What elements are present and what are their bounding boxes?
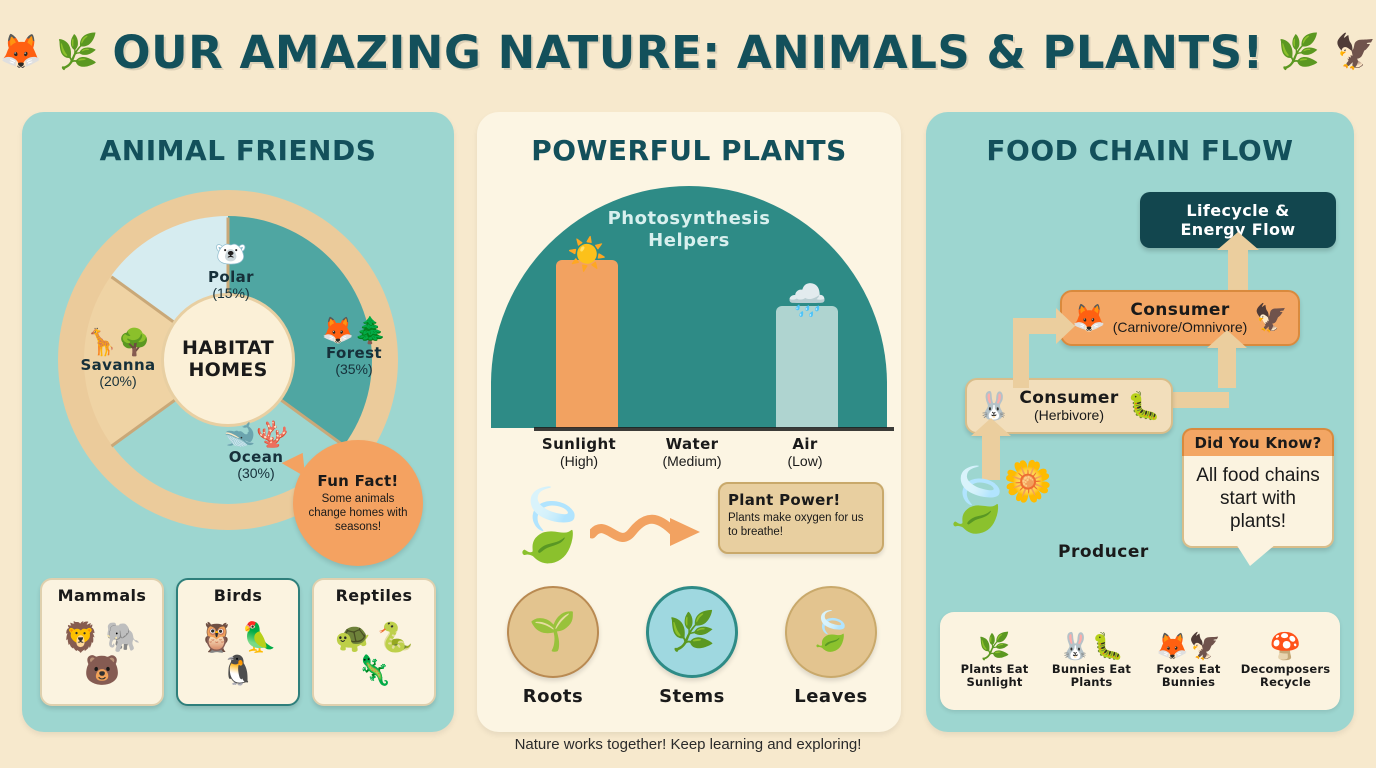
leaves-icon: 🍃	[785, 586, 877, 678]
food-chain-step: 🍄 Decomposers Recycle	[1238, 633, 1334, 690]
penguin-icon: 🐧	[220, 656, 256, 686]
step-line2: Bunnies	[1162, 675, 1215, 689]
donut-slice-savanna: 🦒🌳 Savanna (20%)	[64, 330, 172, 388]
step-line1: Bunnies Eat	[1052, 662, 1131, 676]
step-line1: Foxes Eat	[1156, 662, 1220, 676]
donut-center-label: HABITAT HOMES	[161, 293, 295, 427]
carnivore-name: Consumer	[1112, 301, 1249, 319]
turtle-icon: 🐢	[335, 623, 371, 653]
bar-value-sunlight: (High)	[524, 453, 634, 469]
giraffe-tree-icon: 🦒🌳	[64, 330, 172, 356]
sun-icon: ☀️	[567, 238, 607, 270]
food-chain-step: 🐰🐛 Bunnies Eat Plants	[1044, 633, 1140, 690]
bar-label-water: Water (Medium)	[637, 435, 747, 469]
fun-fact-title: Fun Fact!	[317, 472, 398, 490]
slice-value-forest: (35%)	[306, 362, 402, 377]
plant-part-label-leaves: Leaves	[775, 686, 887, 707]
lion-icon: 🦁	[63, 623, 99, 653]
group-label-birds: Birds	[214, 586, 263, 605]
bar-value-air: (Low)	[750, 453, 860, 469]
fox-bird-icon: 🦊🦅	[1141, 633, 1237, 660]
snake-icon: 🐍	[377, 623, 413, 653]
photosynthesis-title-line1: Photosynthesis	[491, 208, 887, 230]
eagle-icon: 🦅	[1254, 305, 1288, 332]
bar-label-air: Air (Low)	[750, 435, 860, 469]
parrot-icon: 🦜	[241, 623, 277, 653]
plant-part-roots[interactable]: 🌱 Roots	[497, 586, 609, 707]
leaf-icon: 🌿	[56, 35, 98, 69]
polar-bear-icon: 🐻‍❄️	[186, 242, 276, 268]
plant-power-title: Plant Power!	[728, 491, 874, 509]
slice-value-polar: (15%)	[186, 286, 276, 301]
leaf-icon-large: 🍃	[505, 490, 592, 560]
photosynthesis-title-line2: Helpers	[491, 230, 887, 252]
plant-power-callout: Plant Power! Plants make oxygen for us t…	[718, 482, 884, 554]
donut-slice-forest: 🦊🌲 Forest (35%)	[306, 318, 402, 376]
step-line2: Plants	[1071, 675, 1113, 689]
animal-group-birds[interactable]: Birds 🦉 🦜 🐧	[176, 578, 300, 706]
elephant-icon: 🐘	[105, 623, 141, 653]
panel-title-plants: Powerful Plants	[477, 134, 901, 167]
bar-label-sunlight: Sunlight (High)	[524, 435, 634, 469]
fox-tree-icon: 🦊🌲	[306, 318, 402, 344]
bar-sunlight: ☀️	[556, 260, 618, 428]
did-you-know-body: All food chains start with plants!	[1182, 456, 1334, 548]
photosynthesis-title: Photosynthesis Helpers	[491, 208, 887, 251]
herbivore-sub: (Herbivore)	[1017, 408, 1122, 423]
mushroom-icon: 🍄	[1238, 633, 1334, 660]
flower-icon: 🌼	[1003, 462, 1053, 502]
arrow-carnivore-to-lifecycle	[1228, 248, 1248, 292]
fun-fact-body: Some animals change homes with seasons!	[303, 492, 413, 534]
food-chain-steps-strip: 🌿 Plants Eat Sunlight 🐰🐛 Bunnies Eat Pla…	[940, 612, 1340, 710]
herbivore-name: Consumer	[1017, 389, 1122, 407]
slice-name-polar: Polar	[186, 270, 276, 286]
did-you-know-title: Did You Know?	[1182, 428, 1334, 456]
step-line1: Plants Eat	[961, 662, 1029, 676]
step-line2: Sunlight	[966, 675, 1022, 689]
panel-title-animals: Animal Friends	[22, 134, 454, 167]
page-title: Our Amazing Nature: Animals & Plants!	[112, 26, 1263, 79]
slice-name-forest: Forest	[306, 346, 402, 362]
food-chain-step: 🌿 Plants Eat Sunlight	[947, 633, 1043, 690]
panel-title-foodchain: Food Chain Flow	[926, 134, 1354, 167]
leaf-icon-right: 🌿	[1278, 35, 1320, 69]
infographic-page: 🦊 🌿 Our Amazing Nature: Animals & Plants…	[0, 0, 1376, 768]
whale-coral-icon: 🐋🪸	[206, 422, 306, 448]
node-consumer-carnivore[interactable]: 🦊 Consumer (Carnivore/Omnivore) 🦅	[1060, 290, 1300, 346]
page-header: 🦊 🌿 Our Amazing Nature: Animals & Plants…	[0, 0, 1376, 104]
bar-chart-labels: Sunlight (High) Water (Medium) Air (Low)	[524, 435, 860, 469]
group-label-mammals: Mammals	[58, 586, 147, 605]
bar-chart-axis	[534, 427, 894, 431]
bar-name-water: Water	[637, 435, 747, 453]
lizard-icon: 🦎	[356, 656, 392, 686]
fox-icon: 🦊	[1072, 305, 1106, 332]
step-label: Foxes Eat Bunnies	[1141, 663, 1237, 689]
group-label-reptiles: Reptiles	[336, 586, 413, 605]
bar-name-air: Air	[750, 435, 860, 453]
plant-part-label-stems: Stems	[636, 686, 748, 707]
group-icons-reptiles: 🐢 🐍 🦎	[318, 609, 430, 700]
step-label: Plants Eat Sunlight	[947, 663, 1043, 689]
step-label: Decomposers Recycle	[1238, 663, 1334, 689]
animal-group-row: Mammals 🦁 🐘 🐻 Birds 🦉 🦜 🐧 Reptiles 🐢 🐍 🦎	[40, 578, 436, 706]
photosynthesis-bar-chart: ☀️ 🌧️ 💨	[540, 260, 840, 428]
caterpillar-icon: 🐛	[1127, 393, 1161, 420]
did-you-know-text: All food chains start with plants!	[1196, 465, 1320, 532]
bar-name-sunlight: Sunlight	[524, 435, 634, 453]
donut-slice-polar: 🐻‍❄️ Polar (15%)	[186, 242, 276, 300]
animal-group-mammals[interactable]: Mammals 🦁 🐘 🐻	[40, 578, 164, 706]
owl-icon: 🦉	[199, 623, 235, 653]
food-chain-step: 🦊🦅 Foxes Eat Bunnies	[1141, 633, 1237, 690]
fox-icon: 🦊	[0, 35, 42, 69]
did-you-know-callout: Did You Know? All food chains start with…	[1182, 428, 1334, 548]
rabbit-icon: 🐰	[977, 393, 1011, 420]
group-icons-mammals: 🦁 🐘 🐻	[46, 609, 158, 700]
roots-icon: 🌱	[507, 586, 599, 678]
arrow-herbivore-to-carnivore	[1218, 346, 1236, 388]
rabbit-caterpillar-icon: 🐰🐛	[1044, 633, 1140, 660]
leaves-icon: 🌿	[947, 633, 1043, 660]
step-line2: Recycle	[1260, 675, 1311, 689]
raincloud-icon: 🌧️	[787, 284, 827, 316]
callout-tail	[281, 453, 305, 479]
eagle-icon: 🦅	[1334, 35, 1376, 69]
lifecycle-line1: Lifecycle &	[1180, 201, 1295, 220]
group-icons-birds: 🦉 🦜 🐧	[182, 609, 294, 700]
bear-icon: 🐻	[84, 656, 120, 686]
arrow-elbow-left-horizontal	[1013, 318, 1057, 334]
plant-parts-row: 🌱 Roots 🌿 Stems 🍃 Leaves	[497, 586, 887, 707]
slice-value-savanna: (20%)	[64, 374, 172, 389]
callout-tail	[1236, 544, 1276, 566]
footer-text: Nature works together! Keep learning and…	[0, 736, 1376, 753]
step-line1: Decomposers	[1241, 662, 1331, 676]
bar-value-water: (Medium)	[637, 453, 747, 469]
producer-label: Producer	[1058, 542, 1149, 562]
animal-group-reptiles[interactable]: Reptiles 🐢 🐍 🦎	[312, 578, 436, 706]
plant-part-label-roots: Roots	[497, 686, 609, 707]
step-label: Bunnies Eat Plants	[1044, 663, 1140, 689]
plant-part-stems[interactable]: 🌿 Stems	[636, 586, 748, 707]
slice-name-savanna: Savanna	[64, 358, 172, 374]
plant-part-leaves[interactable]: 🍃 Leaves	[775, 586, 887, 707]
donut-center-line2: HOMES	[188, 360, 267, 382]
fun-fact-callout: Fun Fact! Some animals change homes with…	[293, 440, 423, 566]
stem-icon: 🌿	[646, 586, 738, 678]
donut-center-line1: HABITAT	[182, 338, 274, 360]
plant-power-body: Plants make oxygen for us to breathe!	[728, 511, 874, 540]
squiggly-arrow-icon	[590, 512, 710, 552]
